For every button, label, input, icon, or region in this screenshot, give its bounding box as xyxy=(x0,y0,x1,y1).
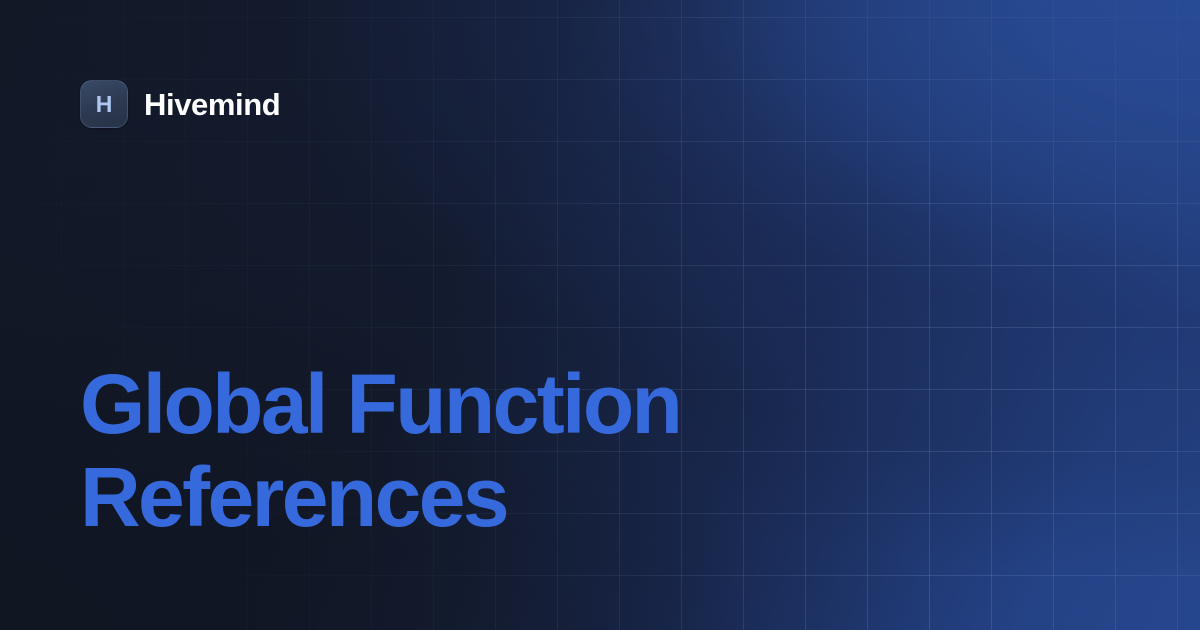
og-card: H Hivemind Global Function References xyxy=(0,0,1200,630)
hivemind-logo-icon: H xyxy=(80,80,128,128)
brand-lockup: H Hivemind xyxy=(80,80,280,128)
page-title: Global Function References xyxy=(80,358,960,544)
brand-badge-letter: H xyxy=(96,93,113,116)
brand-name: Hivemind xyxy=(144,89,280,120)
